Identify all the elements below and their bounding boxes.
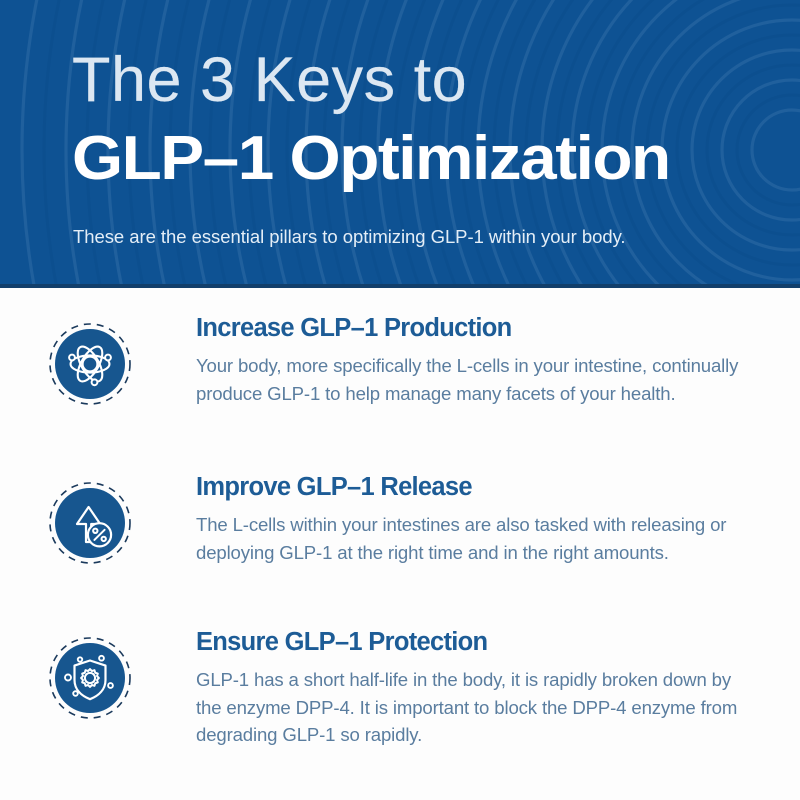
shield-gear-icon xyxy=(55,643,125,713)
key-heading-2: Improve GLP–1 Release xyxy=(196,473,766,502)
keys-list: Increase GLP–1 Production Your body, mor… xyxy=(0,288,800,800)
icon-badge-3 xyxy=(48,636,132,720)
key-text-2: Improve GLP–1 Release The L-cells within… xyxy=(196,473,766,566)
arrow-up-percent-icon xyxy=(55,488,125,558)
key-heading-3: Ensure GLP–1 Protection xyxy=(196,628,766,657)
infographic-page: The 3 Keys to GLP–1 Optimization These a… xyxy=(0,0,800,800)
key-body-2: The L-cells within your intestines are a… xyxy=(196,511,758,566)
key-text-1: Increase GLP–1 Production Your body, mor… xyxy=(196,314,766,407)
header-title-line-1: The 3 Keys to xyxy=(72,46,467,114)
header-subtitle: These are the essential pillars to optim… xyxy=(73,226,626,248)
icon-badge-1 xyxy=(48,322,132,406)
key-body-3: GLP-1 has a short half-life in the body,… xyxy=(196,666,758,748)
key-body-1: Your body, more specifically the L-cells… xyxy=(196,352,758,407)
atom-icon xyxy=(55,329,125,399)
icon-badge-2 xyxy=(48,481,132,565)
header-title-line-2: GLP–1 Optimization xyxy=(72,126,670,193)
key-heading-1: Increase GLP–1 Production xyxy=(196,314,766,343)
header-banner: The 3 Keys to GLP–1 Optimization These a… xyxy=(0,0,800,288)
key-text-3: Ensure GLP–1 Protection GLP-1 has a shor… xyxy=(196,628,766,748)
